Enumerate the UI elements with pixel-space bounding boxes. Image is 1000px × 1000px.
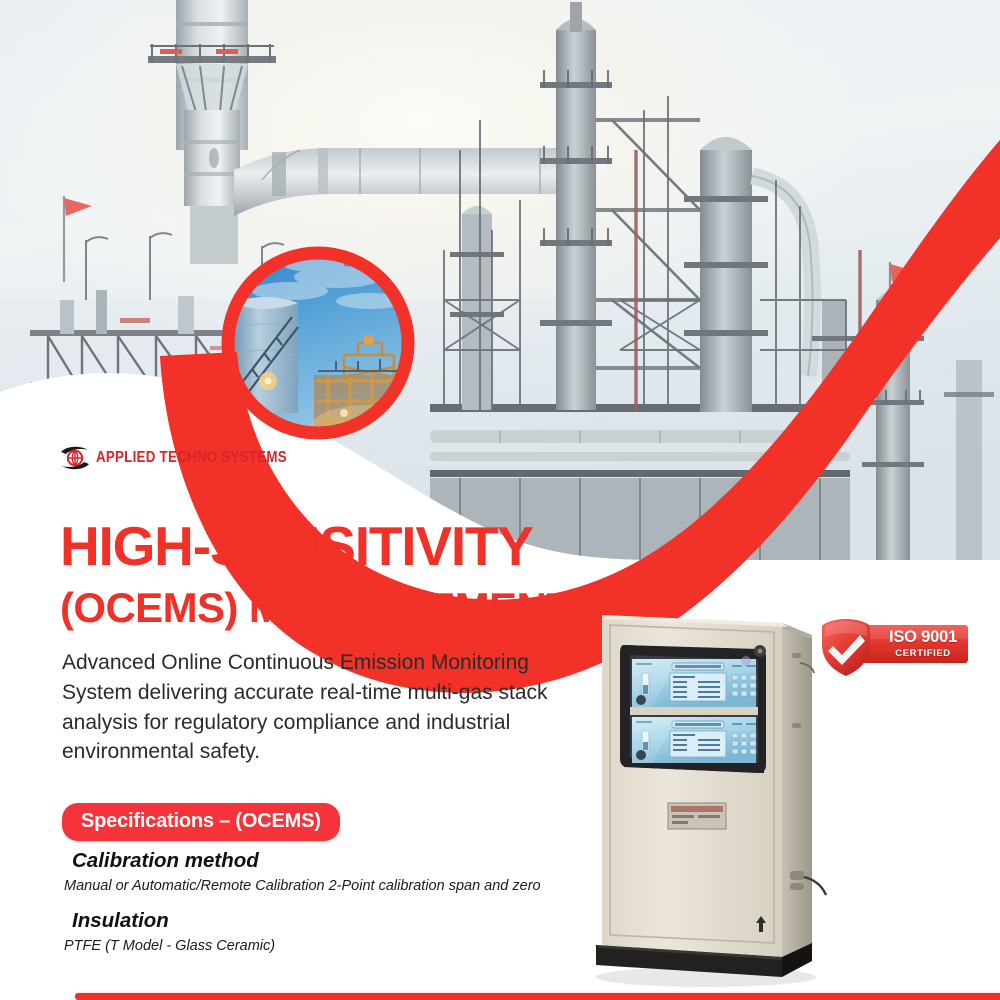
page-title: HIGH-SENSITIVITY (OCEMS) MEASUREMENT — [60, 518, 620, 630]
footer-divider — [75, 993, 1000, 1000]
shield-check-icon — [822, 619, 870, 676]
intro-paragraph: Advanced Online Continuous Emission Moni… — [62, 648, 567, 767]
headline-line-1: HIGH-SENSITIVITY — [60, 518, 620, 574]
flyer-page: APPLIED TECHNO SYSTEMS HIGH-SENSITIVITY … — [0, 0, 1000, 1000]
company-logo: APPLIED TECHNO SYSTEMS — [58, 445, 318, 471]
spec-term: Insulation — [72, 908, 584, 934]
headline-line-2: (OCEMS) MEASUREMENT — [60, 586, 620, 630]
spec-item: Insulation PTFE (T Model - Glass Ceramic… — [64, 908, 584, 956]
inset-photo-refinery — [218, 243, 418, 443]
product-image-ocems-cabinet — [586, 605, 836, 990]
spec-definition: PTFE (T Model - Glass Ceramic) — [64, 936, 584, 957]
spec-item: Calibration method Manual or Automatic/R… — [64, 848, 584, 896]
hero-photo — [0, 0, 1000, 560]
globe-orbit-icon — [58, 445, 92, 471]
specifications-badge: Specifications – (OCEMS) — [62, 803, 340, 841]
iso-certification-badge: ISO 9001 CERTIFIED — [820, 617, 970, 679]
spec-definition: Manual or Automatic/Remote Calibration 2… — [64, 876, 584, 897]
company-name: APPLIED TECHNO SYSTEMS — [96, 450, 287, 466]
spec-term: Calibration method — [72, 848, 584, 874]
specifications-list: Calibration method Manual or Automatic/R… — [64, 848, 584, 956]
